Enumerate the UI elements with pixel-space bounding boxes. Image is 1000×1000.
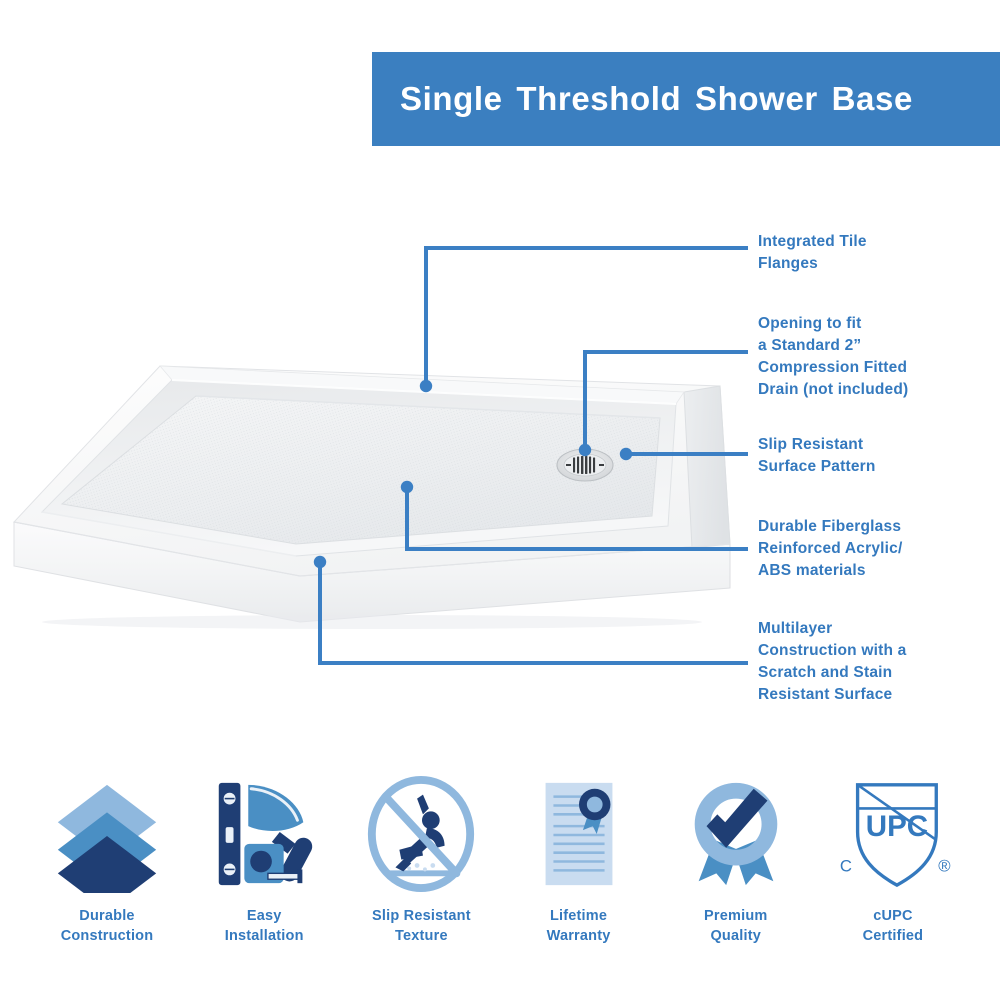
leader-line-drain	[585, 352, 748, 450]
feature-row: Durable Construction	[0, 775, 1000, 975]
upc-left-mark: C	[840, 856, 852, 875]
feature-slip-resistant-texture: Slip Resistant Texture	[346, 775, 496, 975]
level-trowel-icon	[205, 775, 323, 893]
leader-dot-materials	[401, 481, 413, 493]
leader-line-multilayer	[320, 562, 748, 663]
feature-premium-quality: Premium Quality	[661, 775, 811, 975]
upc-shield-icon: UPC C ®	[834, 775, 952, 893]
callout-multilayer-construction: Multilayer Construction with a Scratch a…	[758, 618, 906, 706]
feature-easy-installation: Easy Installation	[189, 775, 339, 975]
leader-dot-surface	[620, 448, 632, 460]
feature-lifetime-warranty: Lifetime Warranty	[504, 775, 654, 975]
feature-label: Durable Construction	[61, 907, 154, 946]
leader-dot-flanges	[420, 380, 432, 392]
upc-right-mark: ®	[938, 856, 951, 875]
callout-durable-materials: Durable Fiberglass Reinforced Acrylic/ A…	[758, 516, 903, 582]
feature-label: Slip Resistant Texture	[372, 907, 471, 946]
feature-durable-construction: Durable Construction	[32, 775, 182, 975]
infographic-page: Single Threshold Shower Base	[0, 0, 1000, 1000]
feature-label: Premium Quality	[704, 907, 767, 946]
check-rosette-icon	[677, 775, 795, 893]
layers-icon	[48, 775, 166, 893]
feature-cupc-certified: UPC C ® cUPC Certified	[818, 775, 968, 975]
callout-integrated-tile-flanges: Integrated Tile Flanges	[758, 231, 867, 275]
upc-shield-text: UPC	[866, 810, 928, 843]
leader-dot-multilayer	[314, 556, 326, 568]
callout-slip-resistant-surface: Slip Resistant Surface Pattern	[758, 434, 876, 478]
leader-dot-drain	[579, 444, 591, 456]
feature-label: Easy Installation	[225, 907, 304, 946]
feature-label: Lifetime Warranty	[547, 907, 611, 946]
no-slip-icon	[362, 775, 480, 893]
callout-drain-opening: Opening to fit a Standard 2” Compression…	[758, 313, 908, 401]
leader-line-materials	[407, 487, 748, 549]
feature-label: cUPC Certified	[863, 907, 924, 946]
certificate-icon	[520, 775, 638, 893]
